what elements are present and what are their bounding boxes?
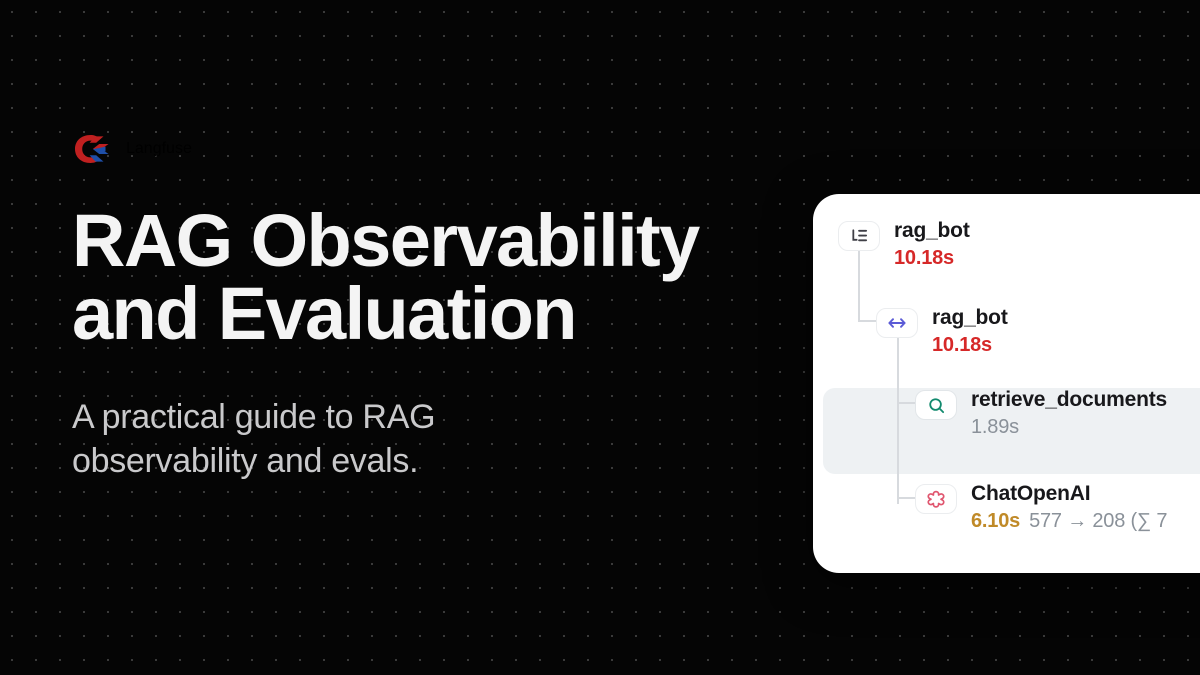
hero-section: Langfuse RAG Observability and Evaluatio…: [72, 132, 802, 484]
node-latency: 10.18s: [932, 333, 992, 357]
node-meta: 10.18s: [894, 246, 970, 270]
node-meta: 10.18s: [932, 333, 1008, 357]
search-icon: [915, 390, 957, 420]
trace-list-icon: [838, 221, 880, 251]
node-meta: 1.89s: [971, 415, 1167, 439]
page-subtitle: A practical guide to RAG observability a…: [72, 395, 572, 485]
tree-connector-horizontal-root: [858, 320, 878, 322]
node-name: retrieve_documents: [971, 388, 1167, 412]
node-name: rag_bot: [894, 219, 970, 243]
brand-name: Langfuse: [126, 140, 192, 158]
trace-node-body: rag_bot 10.18s: [932, 306, 1008, 357]
node-latency: 1.89s: [971, 415, 1019, 439]
node-name: ChatOpenAI: [971, 482, 1167, 506]
tree-connector-vertical-span: [897, 336, 899, 504]
node-latency: 6.10s: [971, 509, 1020, 533]
trace-node-body: retrieve_documents 1.89s: [971, 388, 1167, 439]
tree-connector-horizontal-retrieve: [897, 402, 917, 404]
trace-row-trace-root[interactable]: rag_bot 10.18s: [838, 219, 970, 270]
trace-preview-card: rag_bot 10.18s rag_bot 10.18s: [813, 194, 1200, 573]
trace-row-chatopenai[interactable]: ChatOpenAI 6.10s 577 → 208 (∑ 7: [915, 482, 1167, 533]
trace-row-span-rag-bot[interactable]: rag_bot 10.18s: [876, 306, 1008, 357]
trace-tree: rag_bot 10.18s rag_bot 10.18s: [813, 194, 1200, 573]
langfuse-logo-icon: [72, 132, 112, 166]
node-token-usage: 577 → 208 (∑ 7: [1029, 509, 1167, 533]
node-name: rag_bot: [932, 306, 1008, 330]
trace-node-body: rag_bot 10.18s: [894, 219, 970, 270]
brand-lockup: Langfuse: [72, 132, 802, 166]
openai-generation-icon: [915, 484, 957, 514]
trace-node-body: ChatOpenAI 6.10s 577 → 208 (∑ 7: [971, 482, 1167, 533]
node-meta: 6.10s 577 → 208 (∑ 7: [971, 509, 1167, 533]
tree-connector-horizontal-generation: [897, 497, 917, 499]
page-title: RAG Observability and Evaluation: [72, 204, 802, 351]
span-arrows-icon: [876, 308, 918, 338]
trace-row-retrieve-documents[interactable]: retrieve_documents 1.89s: [915, 388, 1167, 439]
node-latency: 10.18s: [894, 246, 954, 270]
